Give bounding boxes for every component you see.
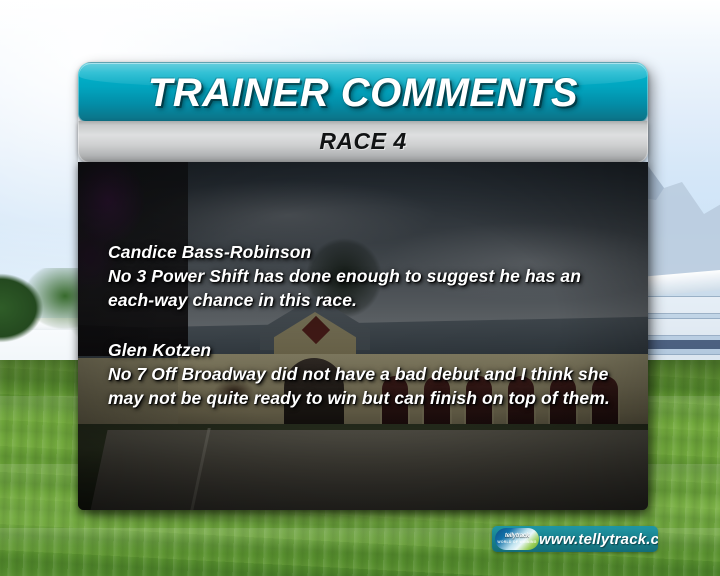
grandstand-tier [648,296,720,314]
trainer-comments-panel: TRAINER COMMENTS RACE 4 [78,62,648,510]
trainer-name: Candice Bass-Robinson [108,240,628,264]
website-url[interactable]: www.tellytrack.com [539,531,658,548]
panel-header-bar: TRAINER COMMENTS [78,62,648,122]
comment-entry: Candice Bass-Robinson No 3 Power Shift h… [108,240,628,312]
panel-body: Candice Bass-Robinson No 3 Power Shift h… [78,162,648,510]
trainer-comment-text: No 3 Power Shift has done enough to sugg… [108,264,620,312]
panel-subheader-bar: RACE 4 [78,121,648,163]
trainer-name: Glen Kotzen [108,338,628,362]
logo-wordmark: tellytrack [505,533,529,540]
comment-entry: Glen Kotzen No 7 Off Broadway did not ha… [108,338,628,410]
grandstand-band [648,340,720,349]
trainer-comment-text: No 7 Off Broadway did not have a bad deb… [108,362,620,410]
tellytrack-watermark[interactable]: tellytrack WORLD OF WINNING www.tellytra… [492,526,658,552]
page-title: TRAINER COMMENTS [79,63,647,122]
race-number-label: RACE 4 [79,121,647,161]
broadcast-graphic-screen: TRAINER COMMENTS RACE 4 [0,0,720,576]
trainer-comments-list: Candice Bass-Robinson No 3 Power Shift h… [108,240,628,436]
logo-tagline: WORLD OF WINNING [497,540,536,545]
tellytrack-logo-icon: tellytrack WORLD OF WINNING [495,528,539,550]
grandstand-tier [648,318,720,336]
